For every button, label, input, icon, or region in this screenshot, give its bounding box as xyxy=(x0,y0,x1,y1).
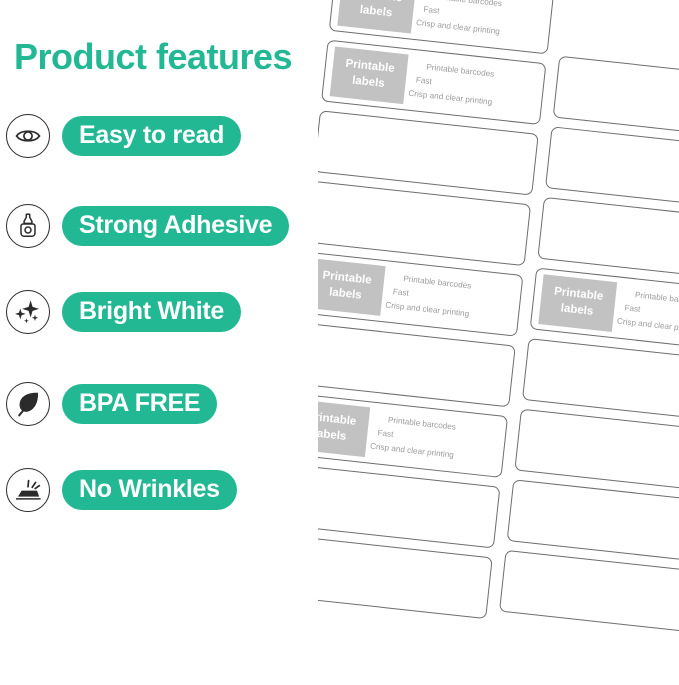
printed-label-content: PrintablelabelsPrintable barcodesFastCri… xyxy=(318,394,507,477)
badge-line-2: labels xyxy=(359,3,393,22)
features-panel: Product features Easy to read Strong Adh… xyxy=(0,0,340,685)
feature-row: Bright White xyxy=(6,289,241,335)
feature-row: No Wrinkles xyxy=(6,467,237,513)
printable-labels-badge: Printablelabels xyxy=(337,0,416,34)
glue-bottle-icon xyxy=(6,204,50,248)
label-cell: PrintablelabelsPrintable barcodesFastCri… xyxy=(318,251,523,336)
label-sheet-photo: PrintablelabelsPrintable barcodesFastCri… xyxy=(318,0,679,685)
feature-pill: Easy to read xyxy=(62,116,241,157)
feature-row: Strong Adhesive xyxy=(6,203,289,249)
sparkle-icon xyxy=(6,290,50,334)
label-cell xyxy=(318,463,500,548)
label-cell xyxy=(318,322,516,407)
label-sheet: PrintablelabelsPrintable barcodesFastCri… xyxy=(318,0,679,685)
label-cell: PrintablelabelsPrintable barcodesFastCri… xyxy=(318,393,508,478)
printed-label-content: PrintablelabelsPrintable barcodesFastCri… xyxy=(322,41,545,124)
feature-pill: BPA FREE xyxy=(62,384,217,425)
feature-pill: Bright White xyxy=(62,292,241,333)
printed-label-content: PrintablelabelsPrintable barcodesFastCri… xyxy=(318,252,522,335)
label-grid: PrintablelabelsPrintable barcodesFastCri… xyxy=(318,0,679,644)
label-body-text: Printable barcodesFastCrisp and clear pr… xyxy=(414,59,496,110)
label-body-text: Printable barcodesFastCrisp and clear pr… xyxy=(375,412,457,463)
printed-label-content: PrintablelabelsPrintable barcodesFastCri… xyxy=(531,269,679,352)
leaf-icon xyxy=(6,382,50,426)
printable-labels-badge: Printablelabels xyxy=(330,46,409,104)
label-body-text: Printable barcodesFastCrisp and clear pr… xyxy=(391,271,473,322)
feature-row: Easy to read xyxy=(6,113,241,159)
label-body-text: Printable barcodesFastCrisp and clear pr… xyxy=(421,0,503,39)
label-cell xyxy=(318,181,531,266)
flat-surface-icon xyxy=(6,468,50,512)
product-features-infographic: PrintablelabelsPrintable barcodesFastCri… xyxy=(0,0,679,685)
badge-line-2: labels xyxy=(351,74,385,93)
label-cell xyxy=(318,534,493,619)
page-title: Product features xyxy=(14,36,292,78)
printable-labels-badge: Printablelabels xyxy=(538,274,617,332)
label-cell: PrintablelabelsPrintable barcodesFastCri… xyxy=(321,40,546,125)
feature-pill: No Wrinkles xyxy=(62,470,237,511)
label-cell xyxy=(318,110,539,195)
badge-line-2: labels xyxy=(560,301,594,320)
eye-icon xyxy=(6,114,50,158)
feature-row: BPA FREE xyxy=(6,381,217,427)
label-body-text: Printable barcodesFastCrisp and clear pr… xyxy=(622,287,679,338)
label-cell xyxy=(499,550,679,635)
feature-pill: Strong Adhesive xyxy=(62,206,289,247)
